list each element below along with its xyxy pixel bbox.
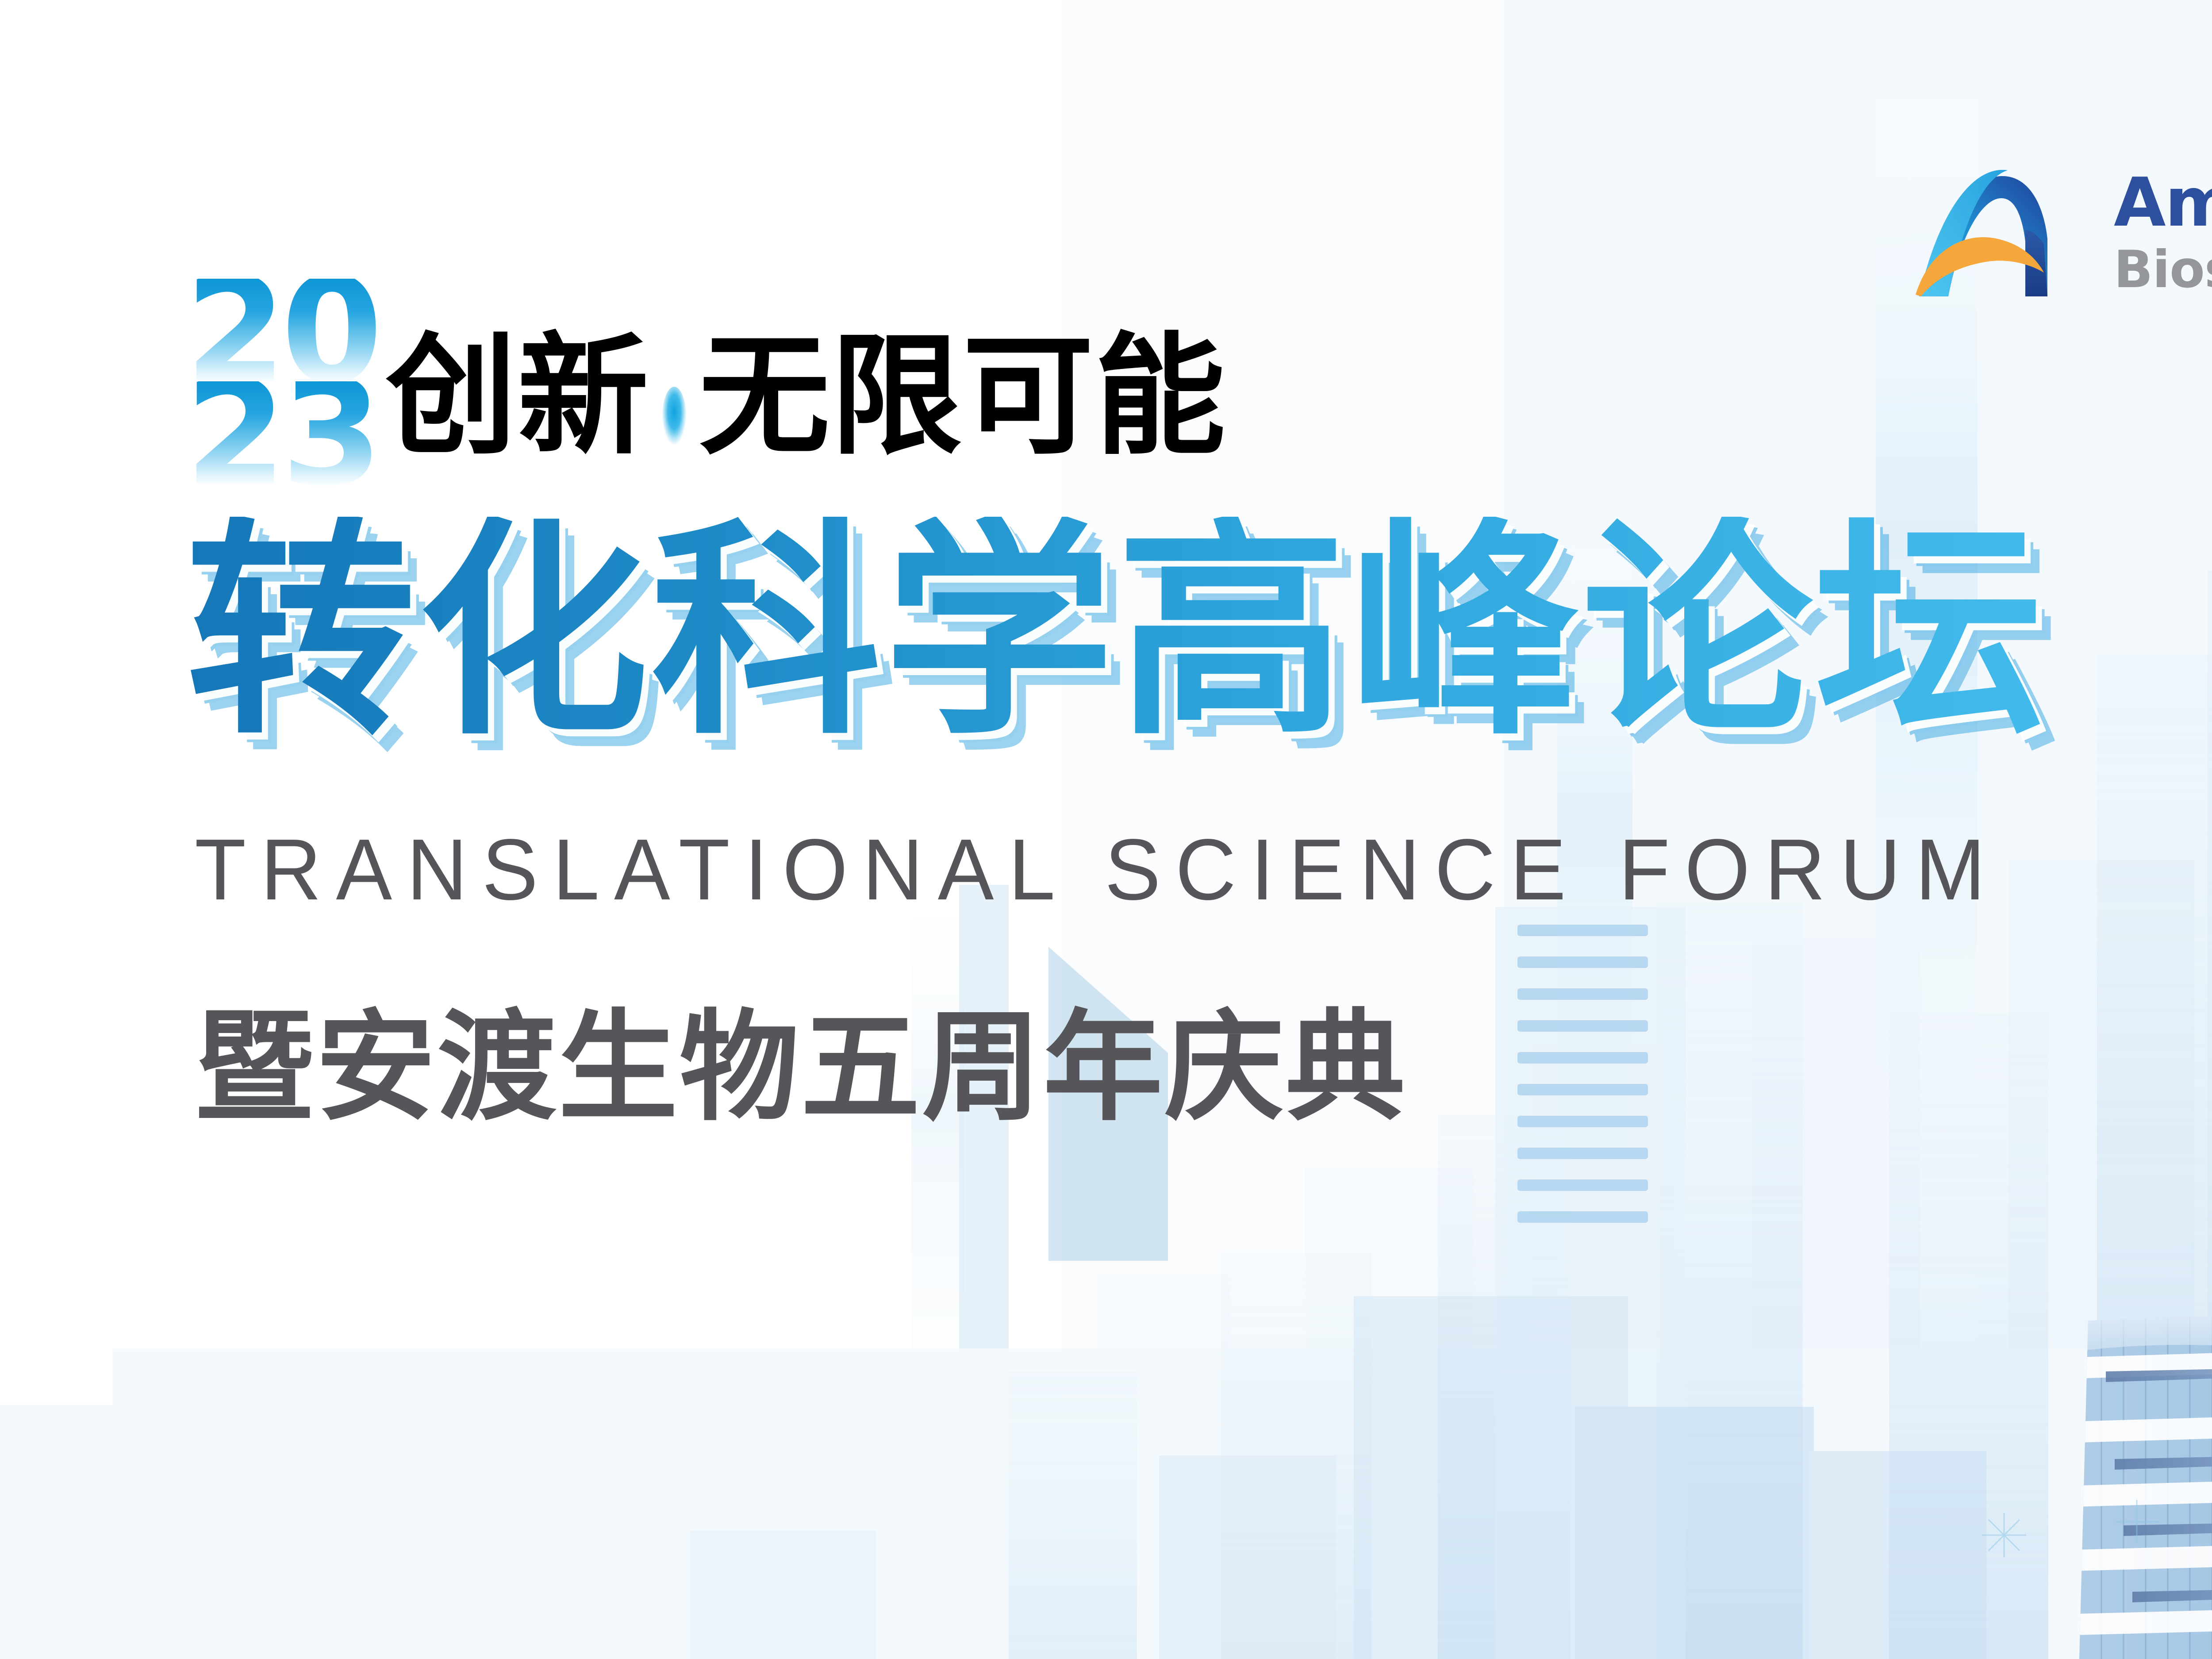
clock-icon — [199, 1349, 257, 1433]
tagline-left: 创新 — [386, 320, 649, 472]
amador-arch-icon — [1911, 164, 2097, 305]
dot-separator-icon — [662, 387, 687, 453]
tagline-right: 无限可能 — [699, 320, 1226, 472]
brand-name: Amador — [2114, 169, 2212, 236]
year-stack: 20 23 — [185, 279, 331, 465]
location-text: 杭州市萧山区知恒巷18号 安渡生物1楼 多媒体厅 — [299, 1242, 1377, 1313]
amador-brand-lockup: Amador Bioscience — [1911, 164, 2212, 305]
year-bottom: 23 — [185, 381, 377, 487]
main-title: 转化科学高峰论坛 — [186, 517, 2047, 747]
amador-brand-text: Amador Bioscience — [2114, 169, 2212, 300]
location-row: 杭州市萧山区知恒巷18号 安渡生物1楼 多媒体厅 — [195, 1234, 1377, 1321]
time-text: 2023年5月12日 下午 — [295, 1356, 784, 1427]
location-pin-icon — [195, 1234, 261, 1321]
brand-subtitle: Bioscience — [2114, 240, 2212, 300]
english-title: TRANSLATIONAL SCIENCE FORUM — [195, 826, 2000, 913]
time-row: 2023年5月12日 下午 — [199, 1349, 784, 1433]
tagline: 创新无限可能 — [386, 331, 1226, 462]
secondary-title: 暨安渡生物五周年庆典 — [195, 1008, 1407, 1127]
header-logo-area: Amador Bioscience — [1911, 146, 2212, 323]
